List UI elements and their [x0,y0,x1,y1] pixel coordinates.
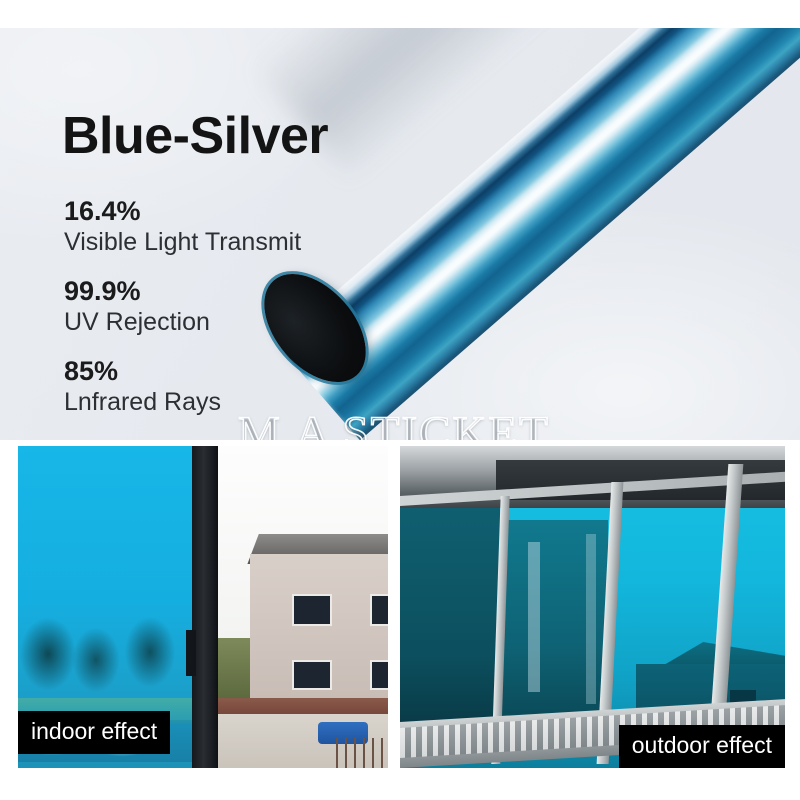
spec-value: 99.9% [64,276,210,307]
indoor-house-window [370,594,388,626]
indoor-effect-caption: indoor effect [18,711,170,754]
indoor-tinted-trees [18,602,194,706]
film-roll-end-cap [244,255,386,401]
comparison-photo-strip: indoor effect outdoor effect [0,446,800,768]
outdoor-effect-caption: outdoor effect [619,725,785,768]
spec-item-visible-light-transmit: 16.4% Visible Light Transmit [64,196,301,257]
spec-label: Lnfrared Rays [64,387,221,417]
outdoor-reflection-post [528,542,540,692]
spec-label: UV Rejection [64,307,210,337]
indoor-fence [336,738,388,768]
spec-value: 85% [64,356,221,387]
outdoor-reflection-post [586,534,596,704]
indoor-house-window [292,594,332,626]
indoor-house-window [292,660,332,690]
indoor-effect-photo: indoor effect [18,446,388,768]
hero-panel: Blue-Silver 16.4% Visible Light Transmit… [0,28,800,440]
indoor-house-window [370,660,388,690]
film-roll-gloss [276,28,800,440]
product-image-canvas: Blue-Silver 16.4% Visible Light Transmit… [0,0,800,800]
spec-value: 16.4% [64,196,301,227]
page-title: Blue-Silver [62,110,328,162]
film-roll-shadow [251,28,772,178]
watermark-text: M.A STICKET [238,406,550,440]
indoor-window-latch [186,630,196,676]
outdoor-effect-photo: outdoor effect [400,446,785,768]
indoor-window-frame [192,446,218,768]
film-roll-body [276,28,800,440]
spec-item-infrared-rays: 85% Lnfrared Rays [64,356,221,417]
spec-label: Visible Light Transmit [64,227,301,257]
spec-item-uv-rejection: 99.9% UV Rejection [64,276,210,337]
